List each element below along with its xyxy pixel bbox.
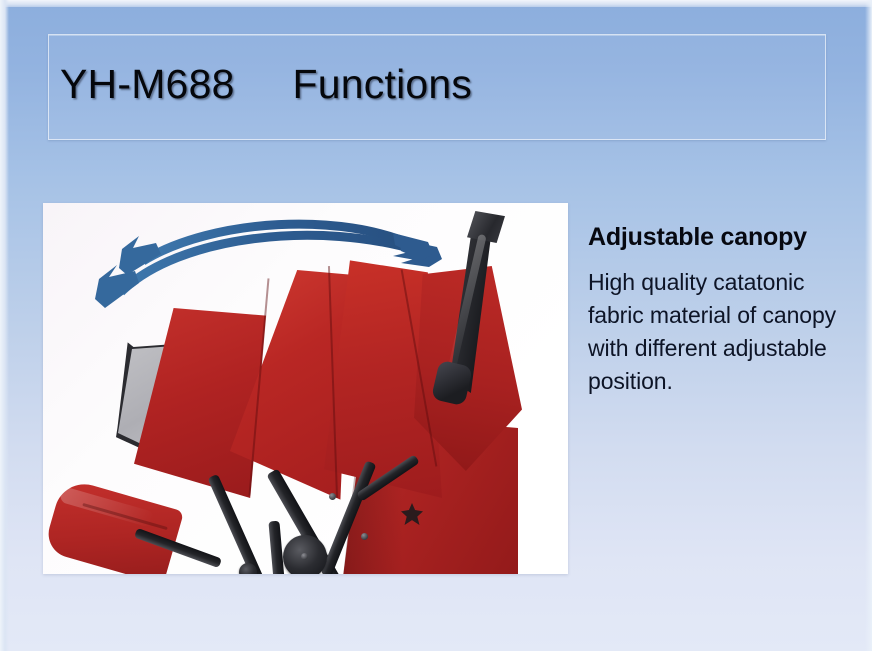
canopy-adjust-arrows — [43, 203, 568, 574]
feature-description: High quality catatonic fabric material o… — [588, 266, 858, 398]
slide-canvas: YH-M688 Functions — [0, 0, 872, 651]
title-box: YH-M688 Functions — [48, 34, 826, 140]
feature-text-column: Adjustable canopy High quality catatonic… — [588, 222, 858, 398]
page-title: YH-M688 Functions — [60, 58, 472, 110]
canopy-adjust-arrow-inner — [119, 224, 433, 275]
feature-title: Adjustable canopy — [588, 222, 858, 252]
slide-edge-right — [865, 0, 872, 651]
product-photo — [43, 203, 568, 574]
slide-edge-top — [0, 0, 872, 7]
slide-edge-left — [0, 0, 9, 651]
